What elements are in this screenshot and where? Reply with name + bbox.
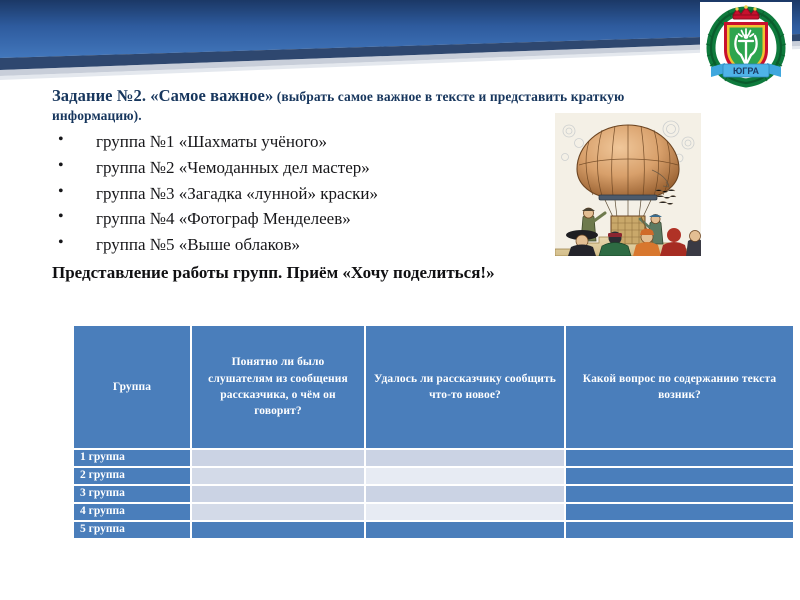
cell-newinfo[interactable] xyxy=(366,504,564,520)
col-header-clarity: Понятно ли было слушателям из сообщения … xyxy=(192,326,364,448)
bullet-icon: • xyxy=(58,128,64,152)
list-item-label: группа №5 «Выше облаков» xyxy=(96,235,300,254)
cell-newinfo[interactable] xyxy=(366,468,564,484)
cell-newinfo[interactable] xyxy=(366,486,564,502)
cell-clarity[interactable] xyxy=(192,486,364,502)
task-title-bold: Задание №2. «Самое важное» xyxy=(52,86,273,105)
cell-clarity[interactable] xyxy=(192,504,364,520)
hot-air-balloon-illustration xyxy=(555,113,701,256)
row-label: 2 группа xyxy=(74,468,190,484)
cell-question[interactable] xyxy=(566,522,793,538)
table-row: 2 группа xyxy=(74,468,793,484)
cell-clarity[interactable] xyxy=(192,468,364,484)
presentation-line: Представление работы групп. Приём «Хочу … xyxy=(52,263,752,283)
list-item-label: группа №2 «Чемоданных дел мастер» xyxy=(96,158,370,177)
cell-question[interactable] xyxy=(566,468,793,484)
bullet-icon: • xyxy=(58,231,64,255)
table-row: 4 группа xyxy=(74,504,793,520)
bullet-icon: • xyxy=(58,180,64,204)
header-banner xyxy=(0,0,800,92)
crest-caption: ЮГРА xyxy=(733,66,760,76)
cell-question[interactable] xyxy=(566,486,793,502)
table-row: 1 группа xyxy=(74,450,793,466)
feedback-table: Группа Понятно ли было слушателям из соо… xyxy=(72,324,745,540)
cell-question[interactable] xyxy=(566,504,793,520)
balloon-hoop xyxy=(599,195,657,200)
row-label: 3 группа xyxy=(74,486,190,502)
list-item-label: группа №1 «Шахматы учёного» xyxy=(96,132,327,151)
row-label: 4 группа xyxy=(74,504,190,520)
cell-clarity[interactable] xyxy=(192,450,364,466)
row-label: 5 группа xyxy=(74,522,190,538)
crown xyxy=(733,5,759,19)
yugra-coat-of-arms: ЮГРА xyxy=(700,2,792,90)
list-item-label: группа №3 «Загадка «лунной» краски» xyxy=(96,184,378,203)
bullet-icon: • xyxy=(58,154,64,178)
cell-newinfo[interactable] xyxy=(366,450,564,466)
slide-canvas: ЮГРА Задание №2. «Самое важное» (выбрать… xyxy=(0,0,800,600)
cell-question[interactable] xyxy=(566,450,793,466)
bullet-icon: • xyxy=(58,205,64,229)
col-header-group: Группа xyxy=(74,326,190,448)
list-item-label: группа №4 «Фотограф Менделеев» xyxy=(96,209,351,228)
col-header-newinfo: Удалось ли рассказчику сообщить что-то н… xyxy=(366,326,564,448)
cell-clarity[interactable] xyxy=(192,522,364,538)
row-label: 1 группа xyxy=(74,450,190,466)
table-header-row: Группа Понятно ли было слушателям из соо… xyxy=(74,326,793,448)
table-row: 3 группа xyxy=(74,486,793,502)
table-row: 5 группа xyxy=(74,522,793,538)
cell-newinfo[interactable] xyxy=(366,522,564,538)
col-header-question: Какой вопрос по содержанию текста возник… xyxy=(566,326,793,448)
